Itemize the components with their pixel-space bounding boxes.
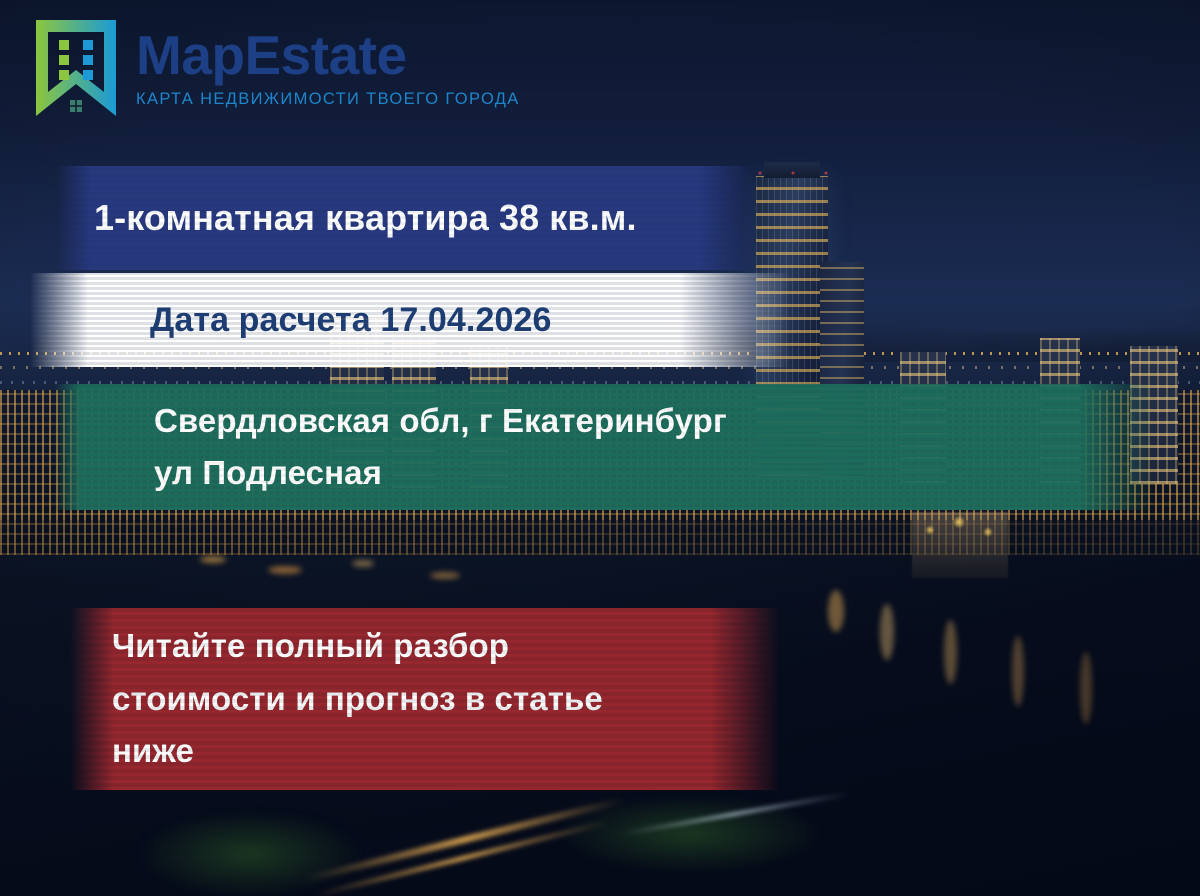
water-reflection (828, 590, 844, 632)
calculation-date-text: Дата расчета 17.04.2026 (150, 301, 790, 340)
water-reflection (352, 560, 374, 567)
church-domes (912, 512, 1008, 578)
address-line-1: Свердловская обл, г Екатеринбург (154, 401, 1154, 441)
brand-logo[interactable]: MapEstate КАРТА НЕДВИЖИМОСТИ ТВОЕГО ГОРО… (30, 18, 520, 118)
tower-aviation-lights (754, 170, 832, 176)
water-reflection (268, 566, 302, 574)
banner-calculation-date: Дата расчета 17.04.2026 (30, 273, 790, 367)
banner-address: Свердловская обл, г Екатеринбург ул Подл… (54, 384, 1154, 510)
water-reflection (1080, 652, 1092, 724)
water-reflection (944, 620, 957, 684)
water-reflection (200, 556, 226, 563)
logo-wordmark: MapEstate КАРТА НЕДВИЖИМОСТИ ТВОЕГО ГОРО… (136, 28, 520, 109)
promo-poster: MapEstate КАРТА НЕДВИЖИМОСТИ ТВОЕГО ГОРО… (0, 0, 1200, 896)
water-reflection (1012, 636, 1024, 706)
water-reflection (880, 604, 894, 660)
cta-line-3: ниже (112, 728, 780, 775)
banner-property: 1-комнатная квартира 38 кв.м. (56, 166, 756, 270)
water-reflection (430, 572, 460, 579)
address-line-2: ул Подлесная (154, 453, 1154, 493)
cta-line-1: Читайте полный разбор (112, 623, 780, 670)
banner-cta: Читайте полный разбор стоимости и прогно… (70, 608, 780, 790)
embankment-park (140, 812, 360, 896)
logo-tagline: КАРТА НЕДВИЖИМОСТИ ТВОЕГО ГОРОДА (136, 90, 520, 109)
cta-line-2: стоимости и прогноз в статье (112, 676, 780, 723)
logo-title: MapEstate (136, 28, 520, 83)
property-text: 1-комнатная квартира 38 кв.м. (94, 197, 756, 239)
bookmark-building-logo-icon (30, 18, 122, 118)
